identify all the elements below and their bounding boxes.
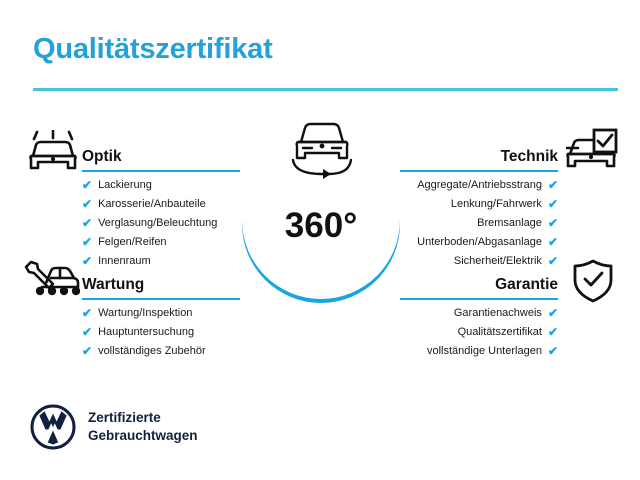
wrench-car-icon (22, 258, 80, 309)
list-item: ✔Lackierung (82, 179, 240, 191)
list-item: Aggregate/Antriebsstrang✔ (400, 179, 558, 191)
title-divider (33, 88, 618, 91)
section-header: Technik (400, 140, 558, 172)
item-label: Karosserie/Anbauteile (98, 199, 206, 210)
item-label: Verglasung/Beleuchtung (98, 218, 217, 229)
checklist: Aggregate/Antriebsstrang✔ Lenkung/Fahrwe… (400, 179, 558, 267)
check-icon: ✔ (548, 198, 558, 210)
item-label: Garantienachweis (454, 308, 542, 319)
section-title: Garantie (495, 276, 558, 294)
list-item: Sicherheit/Elektrik✔ (400, 255, 558, 267)
check-icon: ✔ (548, 345, 558, 357)
section-title: Technik (501, 148, 558, 166)
section-header: Wartung (82, 268, 240, 300)
check-icon: ✔ (548, 307, 558, 319)
shield-check-icon (572, 258, 614, 309)
section-technik: Technik Aggregate/Antriebsstrang✔ Lenkun… (400, 140, 558, 274)
list-item: ✔Felgen/Reifen (82, 236, 240, 248)
list-item: ✔Innenraum (82, 255, 240, 267)
section-header: Optik (82, 140, 240, 172)
section-title: Optik (82, 148, 122, 166)
item-label: Felgen/Reifen (98, 237, 167, 248)
list-item: ✔Hauptuntersuchung (82, 326, 240, 338)
section-underline (400, 298, 558, 301)
item-label: Hauptuntersuchung (98, 327, 194, 338)
footer-line-1: Zertifizierte (88, 410, 161, 425)
item-label: Lenkung/Fahrwerk (451, 199, 542, 210)
section-underline (82, 170, 240, 173)
item-label: Wartung/Inspektion (98, 308, 192, 319)
item-label: vollständige Unterlagen (427, 346, 542, 357)
item-label: vollständiges Zubehör (98, 346, 206, 357)
check-icon: ✔ (548, 179, 558, 191)
check-icon: ✔ (548, 326, 558, 338)
footer-brand: Zertifizierte Gebrauchtwagen (30, 404, 198, 450)
check-icon: ✔ (82, 307, 92, 319)
check-icon: ✔ (82, 236, 92, 248)
list-item: ✔Wartung/Inspektion (82, 307, 240, 319)
check-icon: ✔ (82, 345, 92, 357)
check-icon: ✔ (548, 255, 558, 267)
item-label: Bremsanlage (477, 218, 542, 229)
item-label: Aggregate/Antriebsstrang (417, 180, 542, 191)
checklist: ✔Wartung/Inspektion ✔Hauptuntersuchung ✔… (82, 307, 240, 357)
section-underline (82, 298, 240, 301)
check-icon: ✔ (82, 217, 92, 229)
section-title: Wartung (82, 276, 144, 294)
item-label: Innenraum (98, 256, 151, 267)
list-item: Qualitätszertifikat✔ (400, 326, 558, 338)
page-title: Qualitätszertifikat (33, 33, 273, 66)
vw-logo-icon (30, 404, 76, 450)
item-label: Qualitätszertifikat (458, 327, 542, 338)
check-icon: ✔ (82, 326, 92, 338)
item-label: Lackierung (98, 180, 152, 191)
item-label: Unterboden/Abgasanlage (417, 237, 542, 248)
list-item: ✔Verglasung/Beleuchtung (82, 217, 240, 229)
check-icon: ✔ (548, 217, 558, 229)
car-checkbox-icon (566, 128, 618, 181)
certificate-page: Qualitätszertifikat (0, 0, 640, 480)
check-icon: ✔ (82, 255, 92, 267)
section-garantie: Garantie Garantienachweis✔ Qualitätszert… (400, 268, 558, 364)
list-item: ✔Karosserie/Anbauteile (82, 198, 240, 210)
section-wartung: Wartung ✔Wartung/Inspektion ✔Hauptunters… (82, 268, 240, 364)
check-icon: ✔ (82, 179, 92, 191)
section-underline (400, 170, 558, 173)
list-item: Unterboden/Abgasanlage✔ (400, 236, 558, 248)
check-icon: ✔ (82, 198, 92, 210)
list-item: ✔vollständiges Zubehör (82, 345, 240, 357)
item-label: Sicherheit/Elektrik (454, 256, 542, 267)
checklist: Garantienachweis✔ Qualitätszertifikat✔ v… (400, 307, 558, 357)
footer-line-2: Gebrauchtwagen (88, 428, 198, 443)
checklist: ✔Lackierung ✔Karosserie/Anbauteile ✔Verg… (82, 179, 240, 267)
list-item: Bremsanlage✔ (400, 217, 558, 229)
list-item: vollständige Unterlagen✔ (400, 345, 558, 357)
footer-text: Zertifizierte Gebrauchtwagen (88, 409, 198, 445)
section-optik: Optik ✔Lackierung ✔Karosserie/Anbauteile… (82, 140, 240, 274)
list-item: Lenkung/Fahrwerk✔ (400, 198, 558, 210)
badge-value: 360° (228, 206, 414, 246)
car-shine-icon (26, 130, 80, 181)
section-header: Garantie (400, 268, 558, 300)
check-icon: ✔ (548, 236, 558, 248)
list-item: Garantienachweis✔ (400, 307, 558, 319)
